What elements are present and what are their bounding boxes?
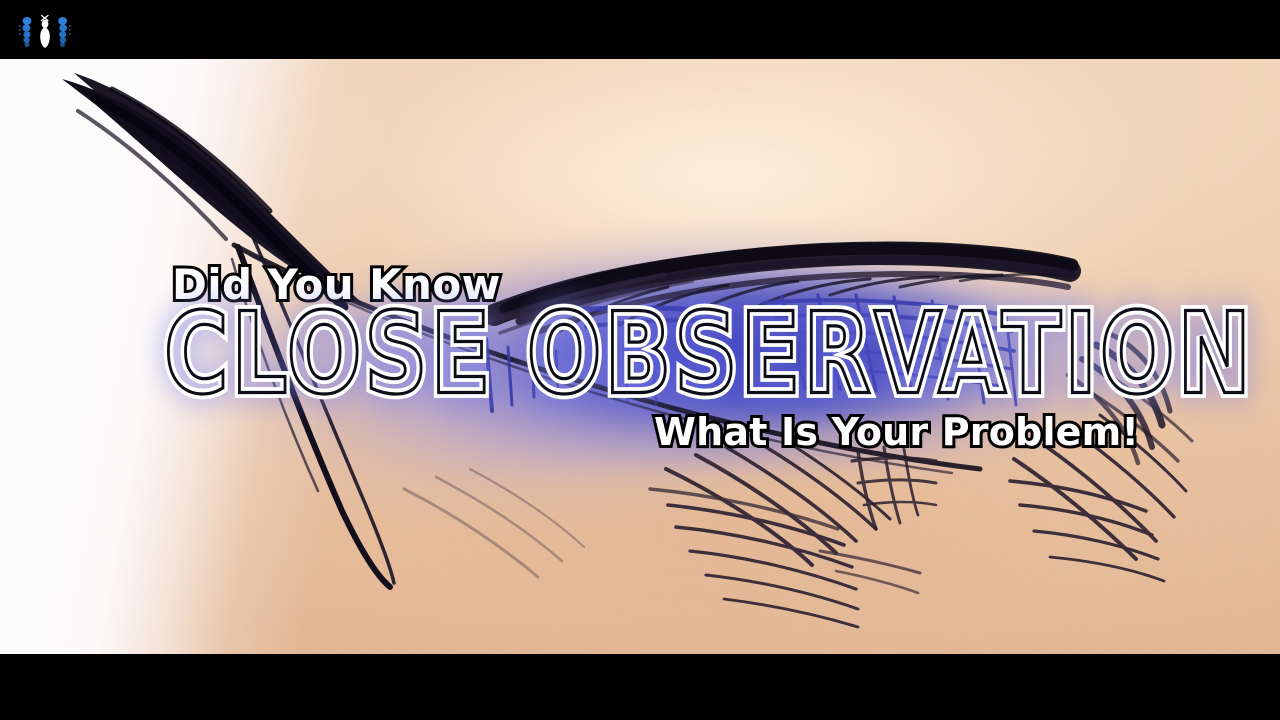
right-shadow-scribble: [1068, 333, 1170, 463]
line-art-layer: [0, 59, 1280, 654]
video-frame[interactable]: [0, 59, 1280, 654]
cheek-crosshatch-right: [1010, 377, 1192, 581]
cheek-crosshatch-left: [650, 441, 920, 627]
letterbox-top: [0, 0, 1280, 59]
iris-hatching: [486, 295, 1016, 411]
video-player-screen: Did You Know CLOSE OBSERVATION CLOSE OBS…: [0, 0, 1280, 720]
faint-sketch-marks: [404, 469, 584, 577]
logo-center-figure-icon: [40, 20, 50, 48]
channel-logo[interactable]: [14, 11, 76, 50]
letterbox-bottom: [0, 654, 1280, 720]
eyebrow: [468, 248, 1072, 333]
upper-lash-sweep: [62, 73, 362, 307]
